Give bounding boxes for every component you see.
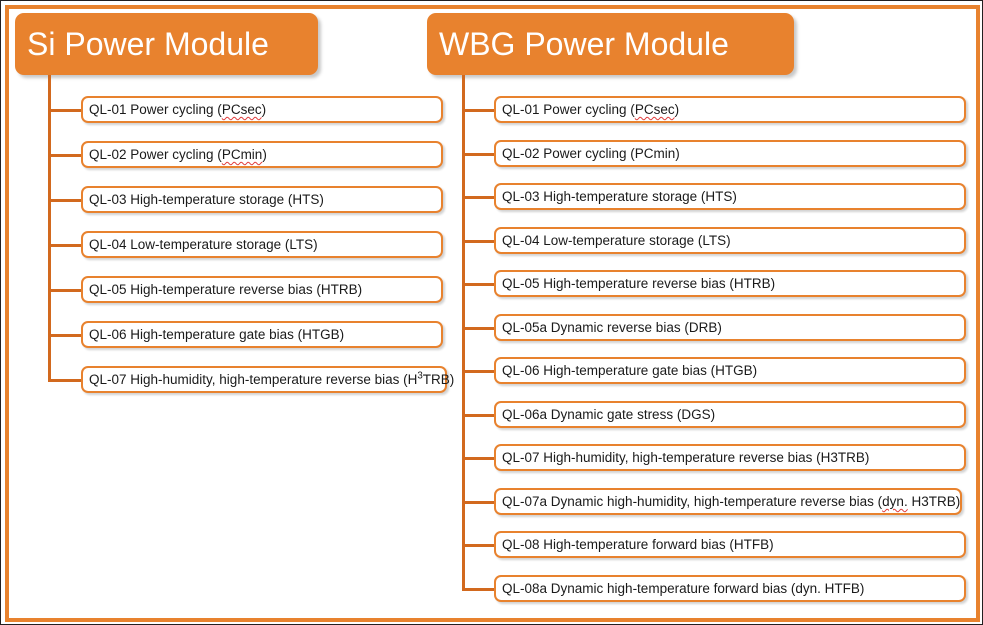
leaf-label: QL-04 Low-temperature storage (LTS): [89, 237, 318, 252]
leaf-box-ql-02[interactable]: QL-02 Power cycling (PCmin): [494, 140, 966, 167]
branch-line: [48, 379, 81, 382]
branch-line: [462, 283, 494, 286]
branch-line: [462, 327, 494, 330]
leaf-label: QL-02 Power cycling (PCmin): [502, 146, 680, 161]
leaf-box-ql-04[interactable]: QL-04 Low-temperature storage (LTS): [494, 227, 966, 254]
leaf-label: QL-02 Power cycling (PCmin): [89, 147, 267, 162]
branch-line: [462, 240, 494, 243]
leaf-label: QL-04 Low-temperature storage (LTS): [502, 233, 731, 248]
branch-line: [462, 501, 494, 504]
branch-line: [462, 414, 494, 417]
branch-line: [462, 457, 494, 460]
leaf-label: QL-06a Dynamic gate stress (DGS): [502, 407, 715, 422]
leaf-box-ql-07a[interactable]: QL-07a Dynamic high-humidity, high-tempe…: [494, 488, 962, 515]
branch-line: [462, 544, 494, 547]
branch-line: [462, 588, 494, 591]
branch-line: [462, 109, 494, 112]
leaf-label: QL-07 High-humidity, high-temperature re…: [502, 450, 869, 465]
branch-line: [462, 370, 494, 373]
leaf-box-ql-08a[interactable]: QL-08a Dynamic high-temperature forward …: [494, 575, 966, 602]
leaf-box-ql-03[interactable]: QL-03 High-temperature storage (HTS): [81, 186, 443, 213]
leaf-label: QL-07 High-humidity, high-temperature re…: [89, 372, 454, 387]
leaf-box-ql-02[interactable]: QL-02 Power cycling (PCmin): [81, 141, 443, 168]
leaf-label: QL-03 High-temperature storage (HTS): [502, 189, 737, 204]
branch-line: [48, 289, 81, 292]
leaf-label: QL-01 Power cycling (PCsec): [89, 102, 266, 117]
leaf-box-ql-06[interactable]: QL-06 High-temperature gate bias (HTGB): [494, 357, 966, 384]
leaf-box-ql-03[interactable]: QL-03 High-temperature storage (HTS): [494, 183, 966, 210]
leaf-box-ql-05[interactable]: QL-05 High-temperature reverse bias (HTR…: [494, 270, 966, 297]
leaf-box-ql-01[interactable]: QL-01 Power cycling (PCsec): [494, 96, 966, 123]
leaf-label: QL-01 Power cycling (PCsec): [502, 102, 679, 117]
leaf-label: QL-05a Dynamic reverse bias (DRB): [502, 320, 722, 335]
branch-line: [48, 109, 81, 112]
leaf-box-ql-05[interactable]: QL-05 High-temperature reverse bias (HTR…: [81, 276, 443, 303]
leaf-label: QL-07a Dynamic high-humidity, high-tempe…: [502, 494, 960, 509]
si-header-label: Si Power Module: [27, 28, 269, 60]
leaf-box-ql-08[interactable]: QL-08 High-temperature forward bias (HTF…: [494, 531, 966, 558]
leaf-box-ql-01[interactable]: QL-01 Power cycling (PCsec): [81, 96, 443, 123]
leaf-label: QL-05 High-temperature reverse bias (HTR…: [89, 282, 362, 297]
leaf-label: QL-06 High-temperature gate bias (HTGB): [89, 327, 344, 342]
leaf-label: QL-03 High-temperature storage (HTS): [89, 192, 324, 207]
leaf-box-ql-04[interactable]: QL-04 Low-temperature storage (LTS): [81, 231, 443, 258]
si-power-module-header[interactable]: Si Power Module: [15, 13, 318, 75]
leaf-box-ql-06a[interactable]: QL-06a Dynamic gate stress (DGS): [494, 401, 966, 428]
leaf-label: QL-08 High-temperature forward bias (HTF…: [502, 537, 774, 552]
branch-line: [462, 153, 494, 156]
wbg-header-label: WBG Power Module: [439, 28, 729, 60]
branch-line: [48, 199, 81, 202]
leaf-label: QL-05 High-temperature reverse bias (HTR…: [502, 276, 775, 291]
branch-line: [48, 154, 81, 157]
branch-line: [48, 334, 81, 337]
diagram-canvas: Si Power Module QL-01 Power cycling (PCs…: [0, 0, 983, 625]
leaf-label: QL-06 High-temperature gate bias (HTGB): [502, 363, 757, 378]
leaf-label: QL-08a Dynamic high-temperature forward …: [502, 581, 864, 596]
leaf-box-ql-07[interactable]: QL-07 High-humidity, high-temperature re…: [81, 366, 447, 393]
branch-line: [462, 196, 494, 199]
leaf-box-ql-07[interactable]: QL-07 High-humidity, high-temperature re…: [494, 444, 966, 471]
leaf-box-ql-06[interactable]: QL-06 High-temperature gate bias (HTGB): [81, 321, 443, 348]
wbg-power-module-header[interactable]: WBG Power Module: [427, 13, 794, 75]
branch-line: [48, 244, 81, 247]
leaf-box-ql-05a[interactable]: QL-05a Dynamic reverse bias (DRB): [494, 314, 966, 341]
